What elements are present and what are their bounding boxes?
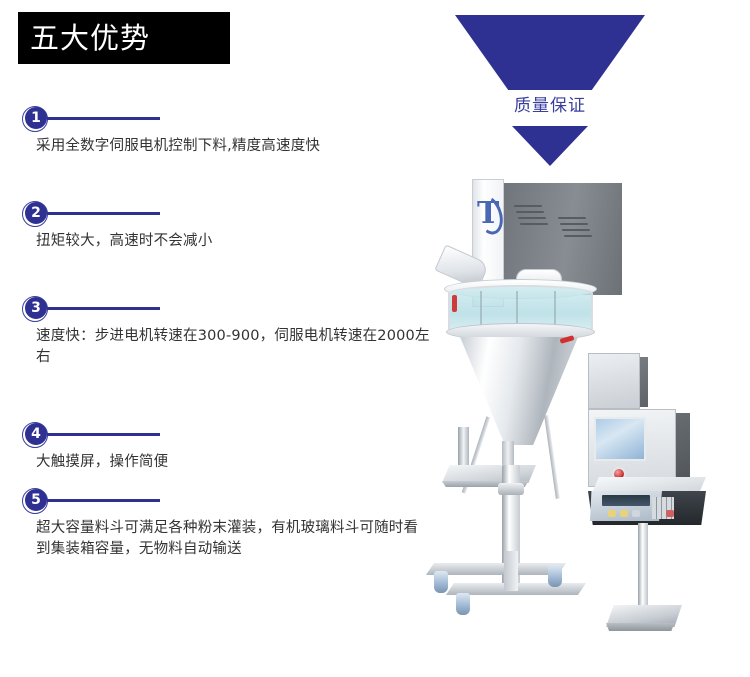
secondary-post: [458, 427, 469, 467]
caster-wheel-icon: [548, 565, 562, 587]
touchscreen-display[interactable]: [594, 417, 646, 461]
badge-disc-icon: 5: [25, 489, 47, 511]
advantage-number-badge: 1: [22, 106, 48, 132]
scale-power-button[interactable]: [666, 510, 674, 517]
down-arrow-icon: [512, 126, 588, 166]
badge-disc-icon: 4: [25, 423, 47, 445]
quality-badge-label: 质量保证: [455, 98, 645, 115]
advantage-rule-divider: [47, 499, 160, 502]
scale-pedestal-pole: [638, 523, 648, 611]
advantage-number-badge: 3: [22, 296, 48, 322]
advantage-number: 3: [31, 301, 41, 315]
badge-disc-icon: 2: [25, 202, 47, 224]
advantage-rule-divider: [47, 212, 160, 215]
stainless-cone: [460, 337, 578, 445]
scale-lcd-display: [602, 495, 650, 506]
advantage-text: 超大容量料斗可满足各种粉末灌装，有机玻璃料斗可随时看到集装箱容量，无物料自动输送: [36, 518, 432, 560]
advantage-rule-divider: [47, 117, 160, 120]
digital-scale-platter: [592, 477, 706, 493]
scale-pedestal-base-edge: [606, 623, 682, 631]
scale-function-button[interactable]: [608, 510, 616, 517]
cone-discharge-tip: [502, 441, 514, 467]
scale-function-button[interactable]: [632, 510, 640, 517]
platform-tray: [442, 465, 536, 483]
advantage-number: 4: [31, 427, 41, 441]
advantage-rule-divider: [47, 307, 160, 310]
scale-function-button[interactable]: [620, 510, 628, 517]
column-collar: [498, 483, 524, 495]
caster-wheel-icon: [434, 571, 448, 593]
advantage-text: 速度快：步进电机转速在300-900，伺服电机转速在2000左右: [36, 326, 432, 368]
hopper-latch-icon: [452, 295, 457, 312]
base-crossbar: [504, 551, 518, 591]
quality-assurance-badge: 质量保证: [455, 10, 645, 170]
advantage-text: 大触摸屏，操作简便: [36, 452, 432, 473]
control-box: [588, 353, 640, 409]
badge-disc-icon: 3: [25, 297, 47, 319]
advantage-number-badge: 5: [22, 488, 48, 514]
advantage-text: 采用全数字伺服电机控制下料,精度高速度快: [36, 136, 432, 157]
product-photo: T: [420, 165, 750, 625]
trapezoid-shape-icon: [455, 15, 645, 90]
badge-disc-icon: 1: [25, 107, 47, 129]
advantage-number: 5: [31, 493, 41, 507]
advantage-text: 扭矩较大，高速时不会减小: [36, 231, 432, 252]
advantage-number-badge: 2: [22, 201, 48, 227]
support-strut: [544, 415, 560, 499]
advantage-rule-divider: [47, 433, 160, 436]
advantage-number-badge: 4: [22, 422, 48, 448]
advantages-list: 1 采用全数字伺服电机控制下料,精度高速度快 2 扭矩较大，高速时不会减小 3 …: [0, 0, 440, 677]
caster-wheel-icon: [456, 593, 470, 615]
brand-logo: T: [477, 199, 501, 233]
advantage-number: 2: [31, 206, 41, 220]
advantage-number: 1: [31, 111, 41, 125]
